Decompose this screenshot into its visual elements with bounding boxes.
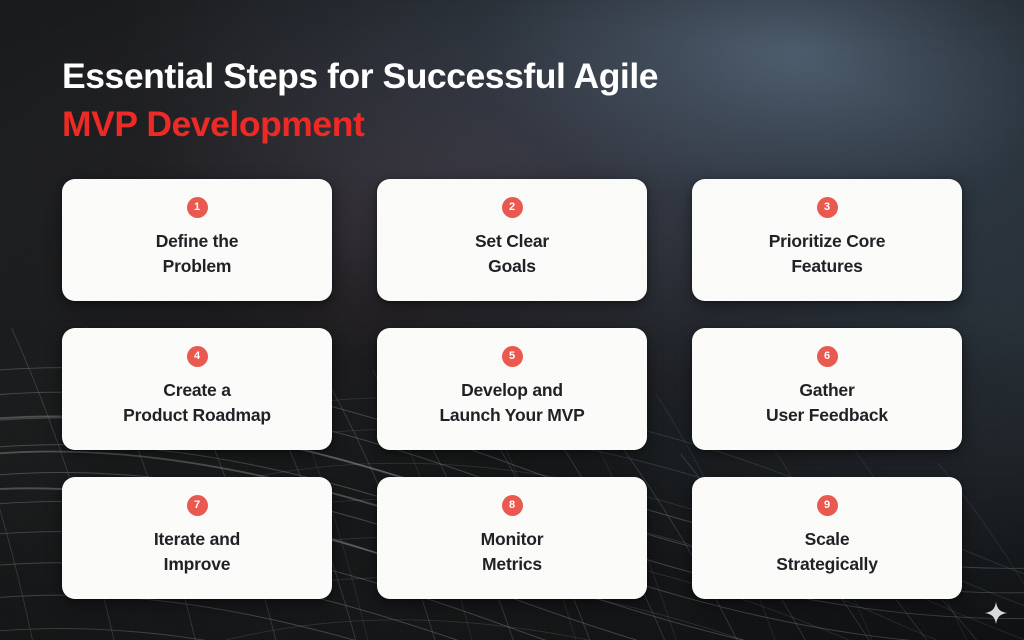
step-title: Iterate and Improve [154, 527, 240, 577]
step-title: Create a Product Roadmap [123, 378, 271, 428]
step-card-1[interactable]: 1 Define the Problem [62, 179, 332, 301]
step-title: Prioritize Core Features [769, 229, 886, 279]
step-card-2[interactable]: 2 Set Clear Goals [377, 179, 647, 301]
step-title: Monitor Metrics [481, 527, 544, 577]
step-card-5[interactable]: 5 Develop and Launch Your MVP [377, 328, 647, 450]
step-card-6[interactable]: 6 Gather User Feedback [692, 328, 962, 450]
title-line-1: Essential Steps for Successful Agile [62, 52, 822, 100]
step-card-3[interactable]: 3 Prioritize Core Features [692, 179, 962, 301]
step-number-badge: 1 [187, 197, 208, 218]
step-card-7[interactable]: 7 Iterate and Improve [62, 477, 332, 599]
step-title: Develop and Launch Your MVP [439, 378, 584, 428]
step-title: Set Clear Goals [475, 229, 549, 279]
step-number-badge: 4 [187, 346, 208, 367]
step-number-badge: 7 [187, 495, 208, 516]
step-number-badge: 9 [817, 495, 838, 516]
step-title: Gather User Feedback [766, 378, 888, 428]
step-number-badge: 3 [817, 197, 838, 218]
step-card-9[interactable]: 9 Scale Strategically [692, 477, 962, 599]
step-title: Define the Problem [156, 229, 239, 279]
step-card-4[interactable]: 4 Create a Product Roadmap [62, 328, 332, 450]
steps-grid: 1 Define the Problem 2 Set Clear Goals 3… [62, 179, 962, 599]
step-number-badge: 6 [817, 346, 838, 367]
step-number-badge: 2 [502, 197, 523, 218]
infographic-poster: Essential Steps for Successful Agile MVP… [0, 0, 1024, 640]
page-title: Essential Steps for Successful Agile MVP… [62, 52, 822, 148]
step-card-8[interactable]: 8 Monitor Metrics [377, 477, 647, 599]
step-title: Scale Strategically [776, 527, 877, 577]
step-number-badge: 5 [502, 346, 523, 367]
title-line-2: MVP Development [62, 100, 822, 148]
step-number-badge: 8 [502, 495, 523, 516]
